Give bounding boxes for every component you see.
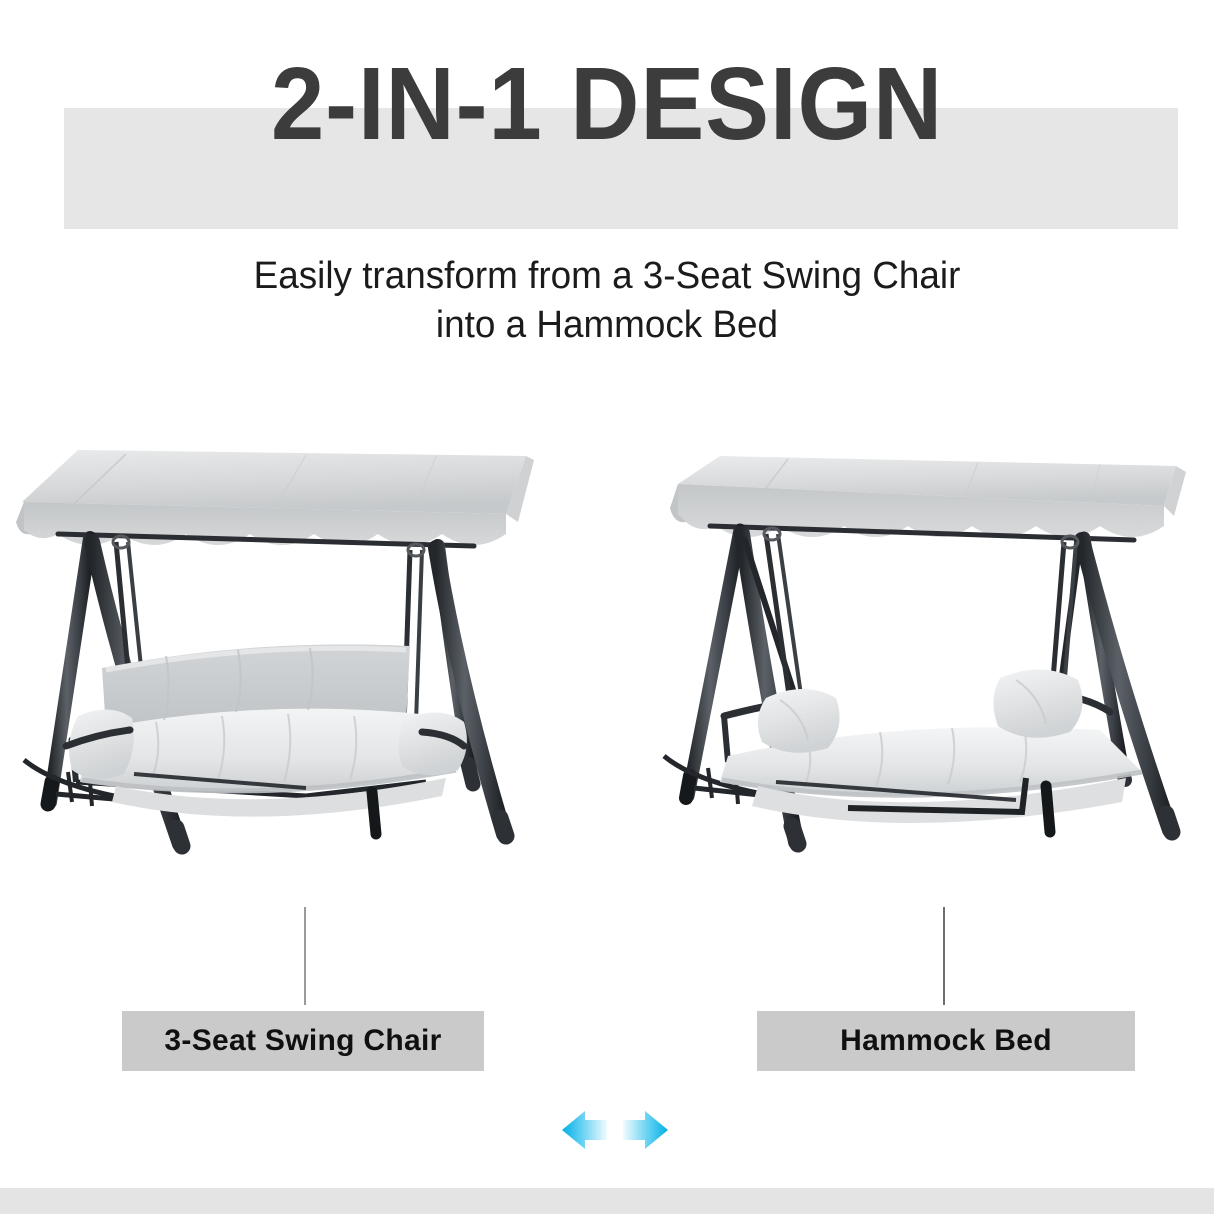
callout-connector-left (304, 907, 306, 1005)
subtitle-line-2: into a Hammock Bed (18, 301, 1196, 350)
product-image-swing-chair (6, 430, 566, 920)
callout-label-swing-chair: 3-Seat Swing Chair (164, 1024, 441, 1058)
callout-connector-right (943, 907, 945, 1005)
subtitle: Easily transform from a 3-Seat Swing Cha… (18, 252, 1196, 349)
footer-band (0, 1188, 1214, 1214)
subtitle-line-1: Easily transform from a 3-Seat Swing Cha… (18, 252, 1196, 301)
callout-box-hammock-bed: Hammock Bed (757, 1011, 1135, 1071)
product-image-hammock-bed (648, 430, 1208, 920)
product-comparison-stage (0, 430, 1214, 930)
callout-label-hammock-bed: Hammock Bed (840, 1024, 1052, 1058)
page-title: 2-IN-1 DESIGN (42, 52, 1171, 155)
arrow-left-icon (562, 1111, 607, 1149)
transform-arrows (555, 1102, 675, 1158)
callout-box-swing-chair: 3-Seat Swing Chair (122, 1011, 484, 1071)
arrow-right-icon (623, 1111, 668, 1149)
